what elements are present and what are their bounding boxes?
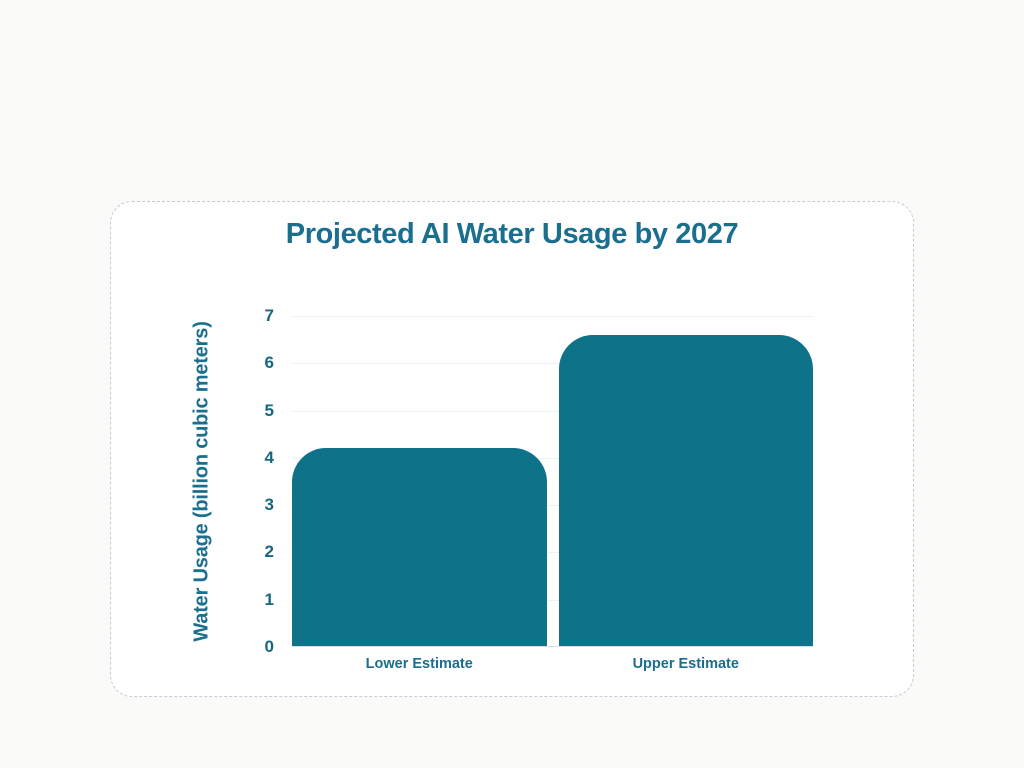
y-axis-tick-label: 3 [265, 495, 274, 515]
chart-title: Projected AI Water Usage by 2027 [111, 218, 913, 251]
y-axis-title-label: Water Usage (billion cubic meters) [191, 321, 214, 641]
y-axis-tick-label: 1 [265, 590, 274, 610]
y-axis-tick-label: 5 [265, 401, 274, 421]
x-axis-tick-label: Upper Estimate [559, 656, 814, 672]
y-axis-tick-label: 2 [265, 542, 274, 562]
y-axis-tick-label: 0 [265, 637, 274, 657]
y-axis-tick-label: 6 [265, 353, 274, 373]
gridline [292, 316, 813, 317]
x-axis-baseline [292, 646, 813, 648]
y-axis-tick-label: 4 [265, 448, 274, 468]
bar[interactable]: Lower Estimate [292, 448, 547, 647]
bar[interactable]: Upper Estimate [559, 335, 814, 647]
chart-card: Projected AI Water Usage by 2027 Water U… [110, 201, 914, 697]
x-axis-tick-label: Lower Estimate [292, 656, 547, 672]
plot-area: 01234567 Lower EstimateUpper Estimate [292, 316, 813, 647]
y-axis-title: Water Usage (billion cubic meters) [185, 316, 219, 647]
y-axis-tick-label: 7 [265, 306, 274, 326]
